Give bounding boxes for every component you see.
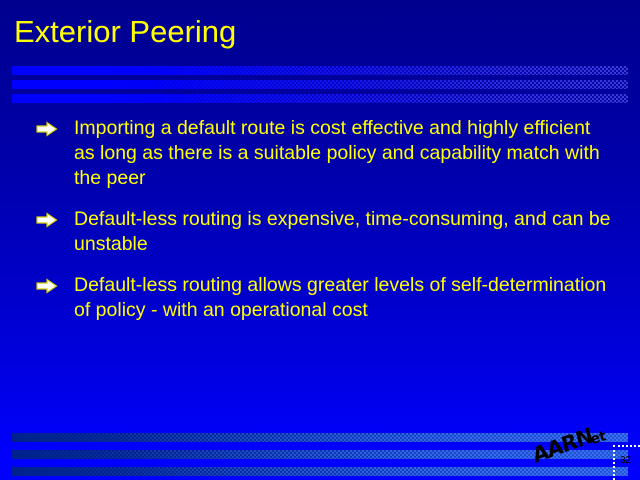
page-number: 32 xyxy=(620,455,631,466)
top-decorative-bars xyxy=(12,66,628,108)
bar-dither-overlay xyxy=(12,80,628,89)
bullet-list: Importing a default route is cost effect… xyxy=(36,116,616,339)
decorative-bar xyxy=(12,66,628,75)
list-item-text: Default-less routing allows greater leve… xyxy=(74,274,606,321)
bar-dither-overlay xyxy=(12,94,628,103)
page-title: Exterior Peering xyxy=(14,14,614,50)
decorative-bar xyxy=(12,94,628,103)
list-item: Importing a default route is cost effect… xyxy=(36,116,616,191)
decorative-bar xyxy=(12,467,628,476)
right-block-arrow-icon xyxy=(36,278,58,294)
right-block-arrow-icon xyxy=(36,212,58,228)
list-item: Default-less routing allows greater leve… xyxy=(36,273,616,323)
page-number-box: 32 xyxy=(613,445,640,480)
list-item-text: Importing a default route is cost effect… xyxy=(74,117,600,189)
bar-dither-overlay xyxy=(12,467,628,476)
aarnet-logo-primary: AARN xyxy=(530,423,594,468)
decorative-bar xyxy=(12,80,628,89)
aarnet-logo: AARN et xyxy=(536,432,622,466)
aarnet-logo-suffix: et xyxy=(589,428,608,448)
right-block-arrow-icon xyxy=(36,121,58,137)
bar-dither-overlay xyxy=(12,66,628,75)
list-item: Default-less routing is expensive, time-… xyxy=(36,207,616,257)
list-item-text: Default-less routing is expensive, time-… xyxy=(74,208,611,255)
slide-canvas: Exterior Peering Importing a default rou… xyxy=(0,0,640,480)
